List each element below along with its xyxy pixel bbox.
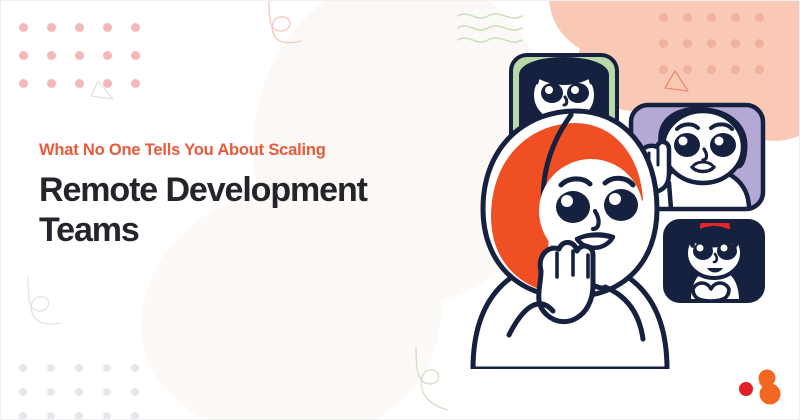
banner: What No One Tells You About Scaling Remo…: [0, 0, 800, 420]
wavy-lines-green-icon: [456, 9, 524, 49]
swirl-line-pink-icon: [253, 0, 315, 59]
dot-grid-bottom-left: [19, 364, 159, 420]
woman-in-orange-hijab: [473, 111, 667, 369]
eyebrow-text: What No One Tells You About Scaling: [39, 141, 439, 159]
page-title: Remote Development Teams: [39, 170, 439, 250]
remote-video-call-illustration: [453, 49, 783, 369]
swirl-line-gray-icon: [6, 273, 68, 341]
brand-logo[interactable]: [737, 369, 781, 405]
triangle-outline-gray-icon: [89, 79, 115, 103]
video-frame-red: [665, 221, 763, 301]
text-block: What No One Tells You About Scaling Remo…: [39, 141, 439, 250]
